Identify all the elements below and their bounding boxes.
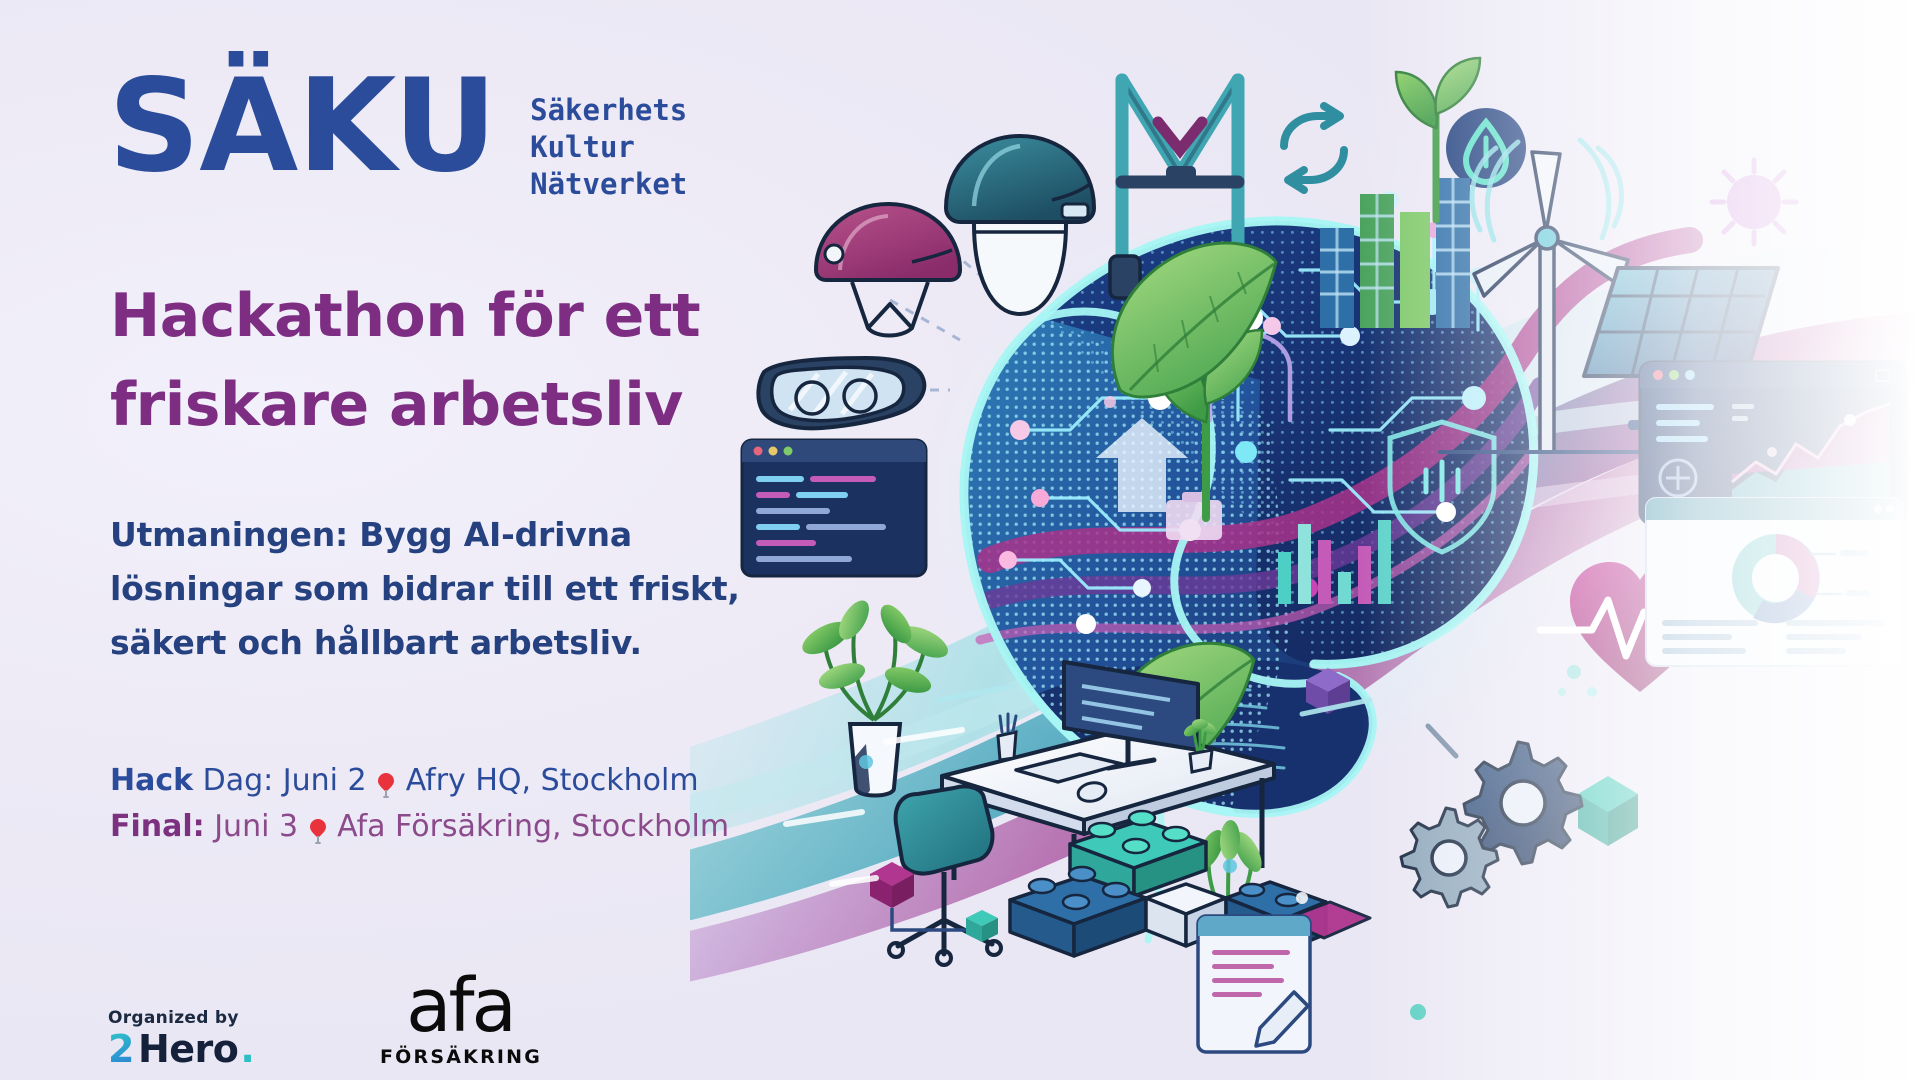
- hack-day-label: Hack: [110, 763, 193, 798]
- organizer-name: Hero: [138, 1030, 238, 1068]
- left-content-column: SÄKU Säkerhets Kultur Nätverket Hackatho…: [108, 0, 868, 1080]
- challenge-paragraph: Utmaningen: Bygg AI-drivna lösningar som…: [110, 508, 850, 669]
- final-day-label: Final:: [110, 809, 205, 844]
- hero-illustration: [690, 0, 1920, 1080]
- hack-day-line: Hack Dag: Juni 2 Afry HQ, Stockholm: [110, 758, 870, 804]
- saku-logo: SÄKU Säkerhets Kultur Nätverket: [108, 68, 687, 203]
- saku-subtitle-line-3: Nätverket: [530, 166, 687, 203]
- afa-subtitle: FÖRSÄKRING: [380, 1046, 540, 1068]
- donut-chart-window-icon: [1646, 498, 1902, 666]
- headline-line-2: friskare arbetsliv: [110, 361, 810, 450]
- final-day-location: Afa Försäkring, Stockholm: [328, 809, 729, 844]
- challenge-line-2: lösningar som bidrar till ett friskt,: [110, 562, 850, 616]
- sun-icon: [1712, 160, 1796, 244]
- challenge-line-3: säkert och hållbart arbetsliv.: [110, 616, 850, 670]
- headline-line-1: Hackathon för ett: [110, 272, 810, 361]
- footer-logos: Organized by 2Hero. afa FÖRSÄKRING: [108, 958, 540, 1068]
- organizer-prefix: Organized by: [108, 1008, 288, 1028]
- challenge-line-1: Utmaningen: Bygg AI-drivna: [110, 508, 850, 562]
- cube-icon-2: [1578, 776, 1638, 846]
- event-dates: Hack Dag: Juni 2 Afry HQ, Stockholm Fina…: [110, 758, 870, 849]
- organizer-wordmark: 2Hero.: [108, 1030, 288, 1068]
- recycle-icon: [1284, 106, 1344, 190]
- hack-day-location: Afry HQ, Stockholm: [396, 763, 698, 798]
- final-day-line: Final: Juni 3 Afa Försäkring, Stockholm: [110, 804, 870, 850]
- organizer-number: 2: [108, 1030, 134, 1068]
- saku-subtitle-line-2: Kultur: [530, 129, 687, 166]
- hack-day-date: Dag: Juni 2: [193, 763, 376, 798]
- gears-icon: [1401, 726, 1582, 907]
- saku-subtitle-line-1: Säkerhets: [530, 92, 687, 129]
- organizer-logo: Organized by 2Hero.: [108, 1008, 288, 1068]
- saku-logo-subtitle: Säkerhets Kultur Nätverket: [530, 92, 687, 203]
- headline: Hackathon för ett friskare arbetsliv: [110, 272, 810, 450]
- partner-logo-afa: afa FÖRSÄKRING: [380, 975, 540, 1068]
- saku-wordmark: SÄKU: [108, 68, 496, 186]
- poster-canvas: SÄKU Säkerhets Kultur Nätverket Hackatho…: [0, 0, 1920, 1080]
- document-edit-icon: [1198, 916, 1310, 1052]
- final-day-date: Juni 3: [205, 809, 308, 844]
- afa-wordmark: afa: [380, 975, 540, 1039]
- organizer-dot: .: [240, 1030, 254, 1068]
